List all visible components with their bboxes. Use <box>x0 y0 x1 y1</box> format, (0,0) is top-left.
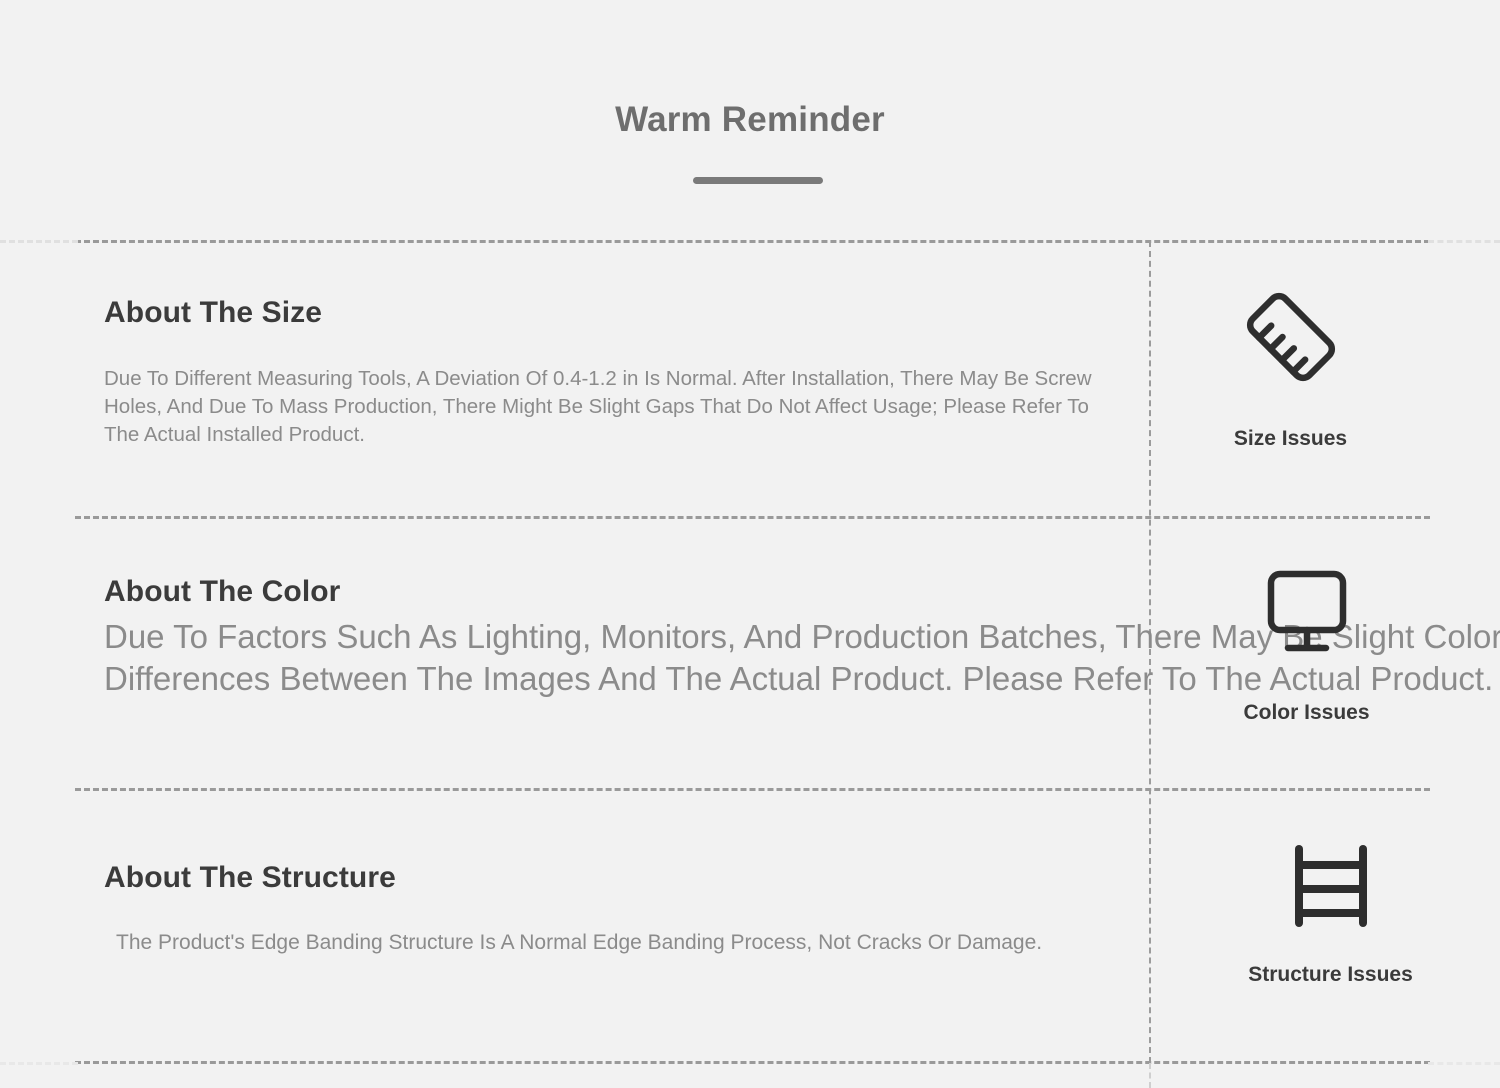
frame-edge-right <box>1428 240 1500 243</box>
section-heading-color: About The Color <box>104 575 340 609</box>
section-row-color: About The Color Due To Factors Such As L… <box>75 519 1430 788</box>
icon-cell-size: Size Issues <box>1151 243 1430 516</box>
section-text-color: About The Color Due To Factors Such As L… <box>75 519 1149 788</box>
page-header: Warm Reminder <box>0 0 1500 232</box>
title-divider <box>693 177 823 184</box>
section-body-size: Due To Different Measuring Tools, A Devi… <box>104 365 1104 449</box>
section-row-structure: About The Structure The Product's Edge B… <box>75 791 1430 1063</box>
frame-edge-left <box>0 240 78 243</box>
section-text-structure: About The Structure The Product's Edge B… <box>75 791 1149 1063</box>
section-heading-size: About The Size <box>104 296 322 330</box>
section-row-size: About The Size Due To Different Measurin… <box>75 243 1430 516</box>
frame-edge-right-bottom <box>1428 1062 1500 1065</box>
ruler-icon <box>1151 287 1430 387</box>
section-text-size: About The Size Due To Different Measurin… <box>75 243 1149 516</box>
icon-cell-color: Color Issues <box>1151 519 1430 788</box>
icon-cell-structure: Structure Issues <box>1151 791 1430 1063</box>
icon-caption-size: Size Issues <box>1151 427 1430 451</box>
shelf-icon <box>1191 843 1470 929</box>
monitor-icon <box>1167 566 1446 658</box>
icon-caption-structure: Structure Issues <box>1191 963 1470 987</box>
section-heading-structure: About The Structure <box>104 861 396 895</box>
page-title: Warm Reminder <box>0 96 1500 144</box>
vertical-column-divider-tail <box>1149 1063 1151 1088</box>
icon-caption-color: Color Issues <box>1167 701 1446 725</box>
frame-edge-left-bottom <box>0 1062 78 1065</box>
